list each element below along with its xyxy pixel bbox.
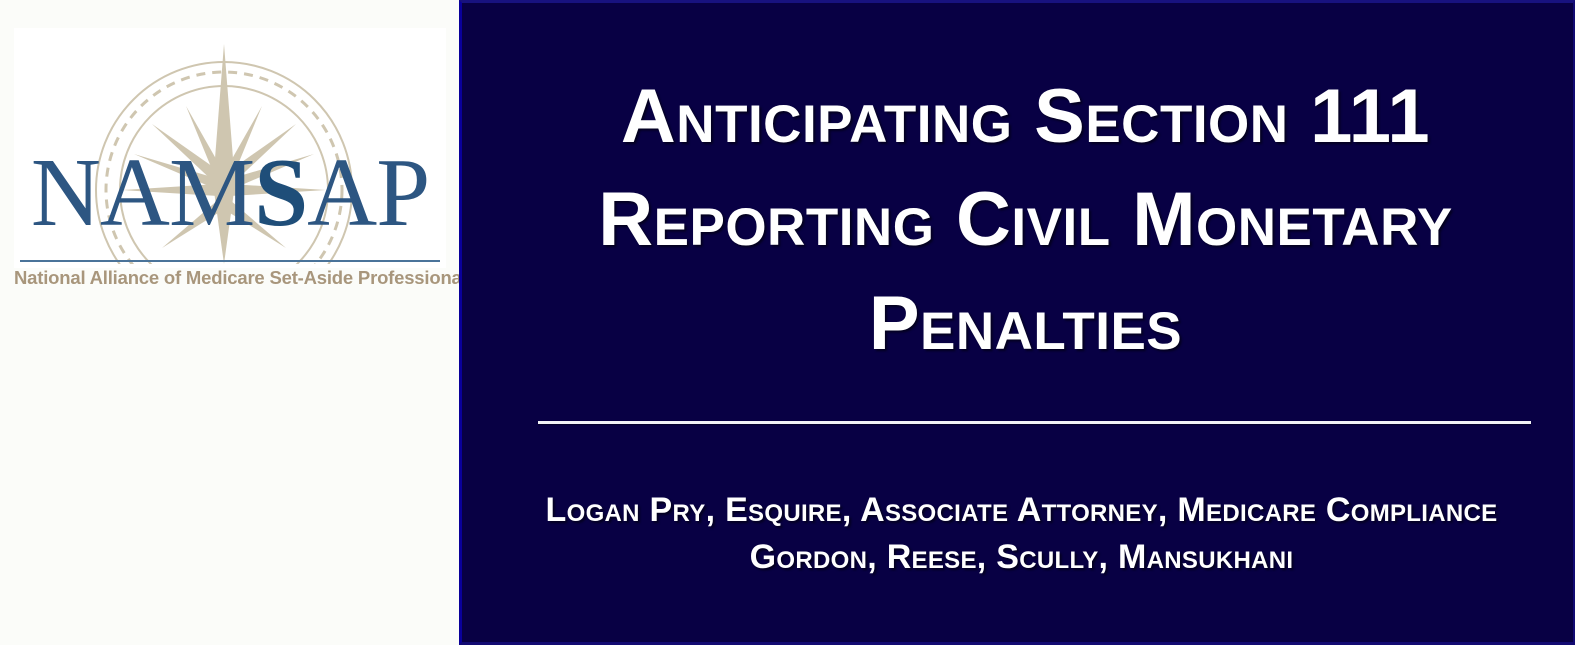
title-slide: NAMSAP National Alliance of Medicare Set… (0, 0, 1575, 645)
logo-wordmark: NAMSAP (14, 146, 446, 239)
title-subtitle-divider (538, 421, 1531, 424)
logo-panel: NAMSAP National Alliance of Medicare Set… (0, 0, 459, 645)
title-panel: Anticipating Section 111 Reporting Civil… (459, 0, 1575, 645)
logo-divider-rule (20, 260, 440, 262)
title-line-1: Anticipating Section 111 (621, 74, 1430, 159)
logo-wordmark-highlight: S (254, 139, 307, 246)
logo-tagline: National Alliance of Medicare Set-Aside … (14, 267, 446, 289)
title-line-2: Reporting Civil Monetary (598, 177, 1453, 262)
subtitle-line-1: Logan Pry, Esquire, Associate Attorney, … (482, 487, 1561, 534)
title-content: Anticipating Section 111 Reporting Civil… (462, 3, 1573, 642)
subtitle-line-2: Gordon, Reese, Scully, Mansukhani (482, 534, 1561, 581)
namsap-logo: NAMSAP National Alliance of Medicare Set… (14, 28, 446, 268)
page-title: Anticipating Section 111 Reporting Civil… (496, 65, 1555, 375)
logo-wordmark-prefix: NAM (31, 139, 254, 246)
logo-wordmark-suffix: AP (307, 139, 429, 246)
title-line-3: Penalties (869, 281, 1182, 366)
presenter-subtitle: Logan Pry, Esquire, Associate Attorney, … (482, 487, 1561, 581)
